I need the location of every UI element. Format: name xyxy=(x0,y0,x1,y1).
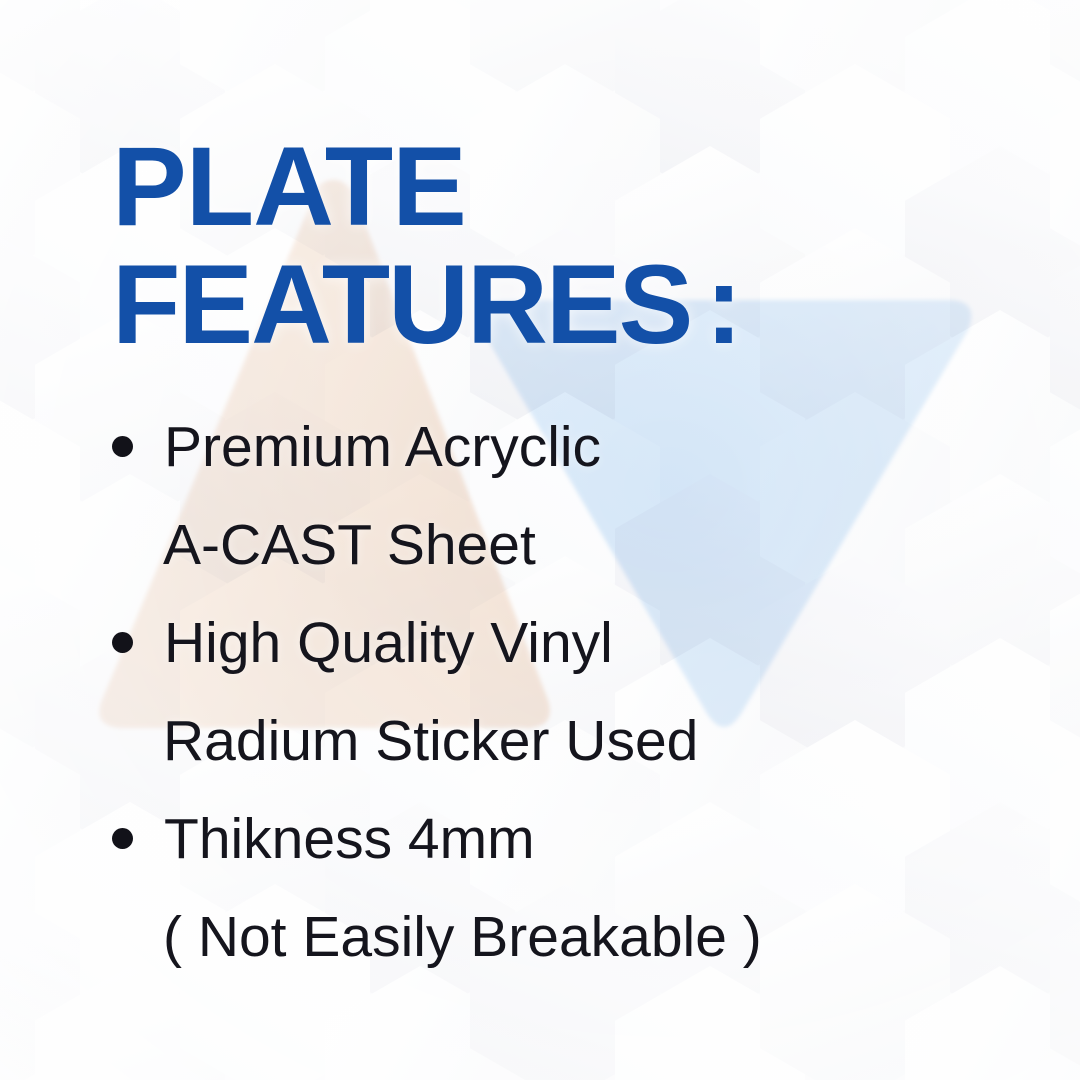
feature-line-1: Premium Acryclic xyxy=(164,398,1004,496)
feature-line-2: ( Not Easily Breakable ) xyxy=(163,888,1004,986)
page-title: PLATE FEATURES: xyxy=(112,128,743,364)
list-item: High Quality Vinyl Radium Sticker Used xyxy=(104,594,1004,790)
feature-line-1: High Quality Vinyl xyxy=(164,594,1004,692)
title-colon: : xyxy=(705,242,742,367)
list-item: Thikness 4mm ( Not Easily Breakable ) xyxy=(104,790,1004,986)
list-item: Premium Acryclic A-CAST Sheet xyxy=(104,398,1004,594)
bullet-icon xyxy=(112,436,133,457)
bullet-icon xyxy=(112,828,133,849)
title-line-1: PLATE xyxy=(112,128,743,246)
title-line-2-text: FEATURES xyxy=(112,242,691,367)
plate-features-graphic: PLATE FEATURES: Premium Acryclic A-CAST … xyxy=(0,0,1080,1080)
features-list: Premium Acryclic A-CAST Sheet High Quali… xyxy=(104,398,1004,986)
feature-line-2: Radium Sticker Used xyxy=(163,692,1004,790)
feature-line-1: Thikness 4mm xyxy=(164,790,1004,888)
bullet-icon xyxy=(112,632,133,653)
feature-line-2: A-CAST Sheet xyxy=(163,496,1004,594)
title-line-2: FEATURES: xyxy=(112,246,743,364)
